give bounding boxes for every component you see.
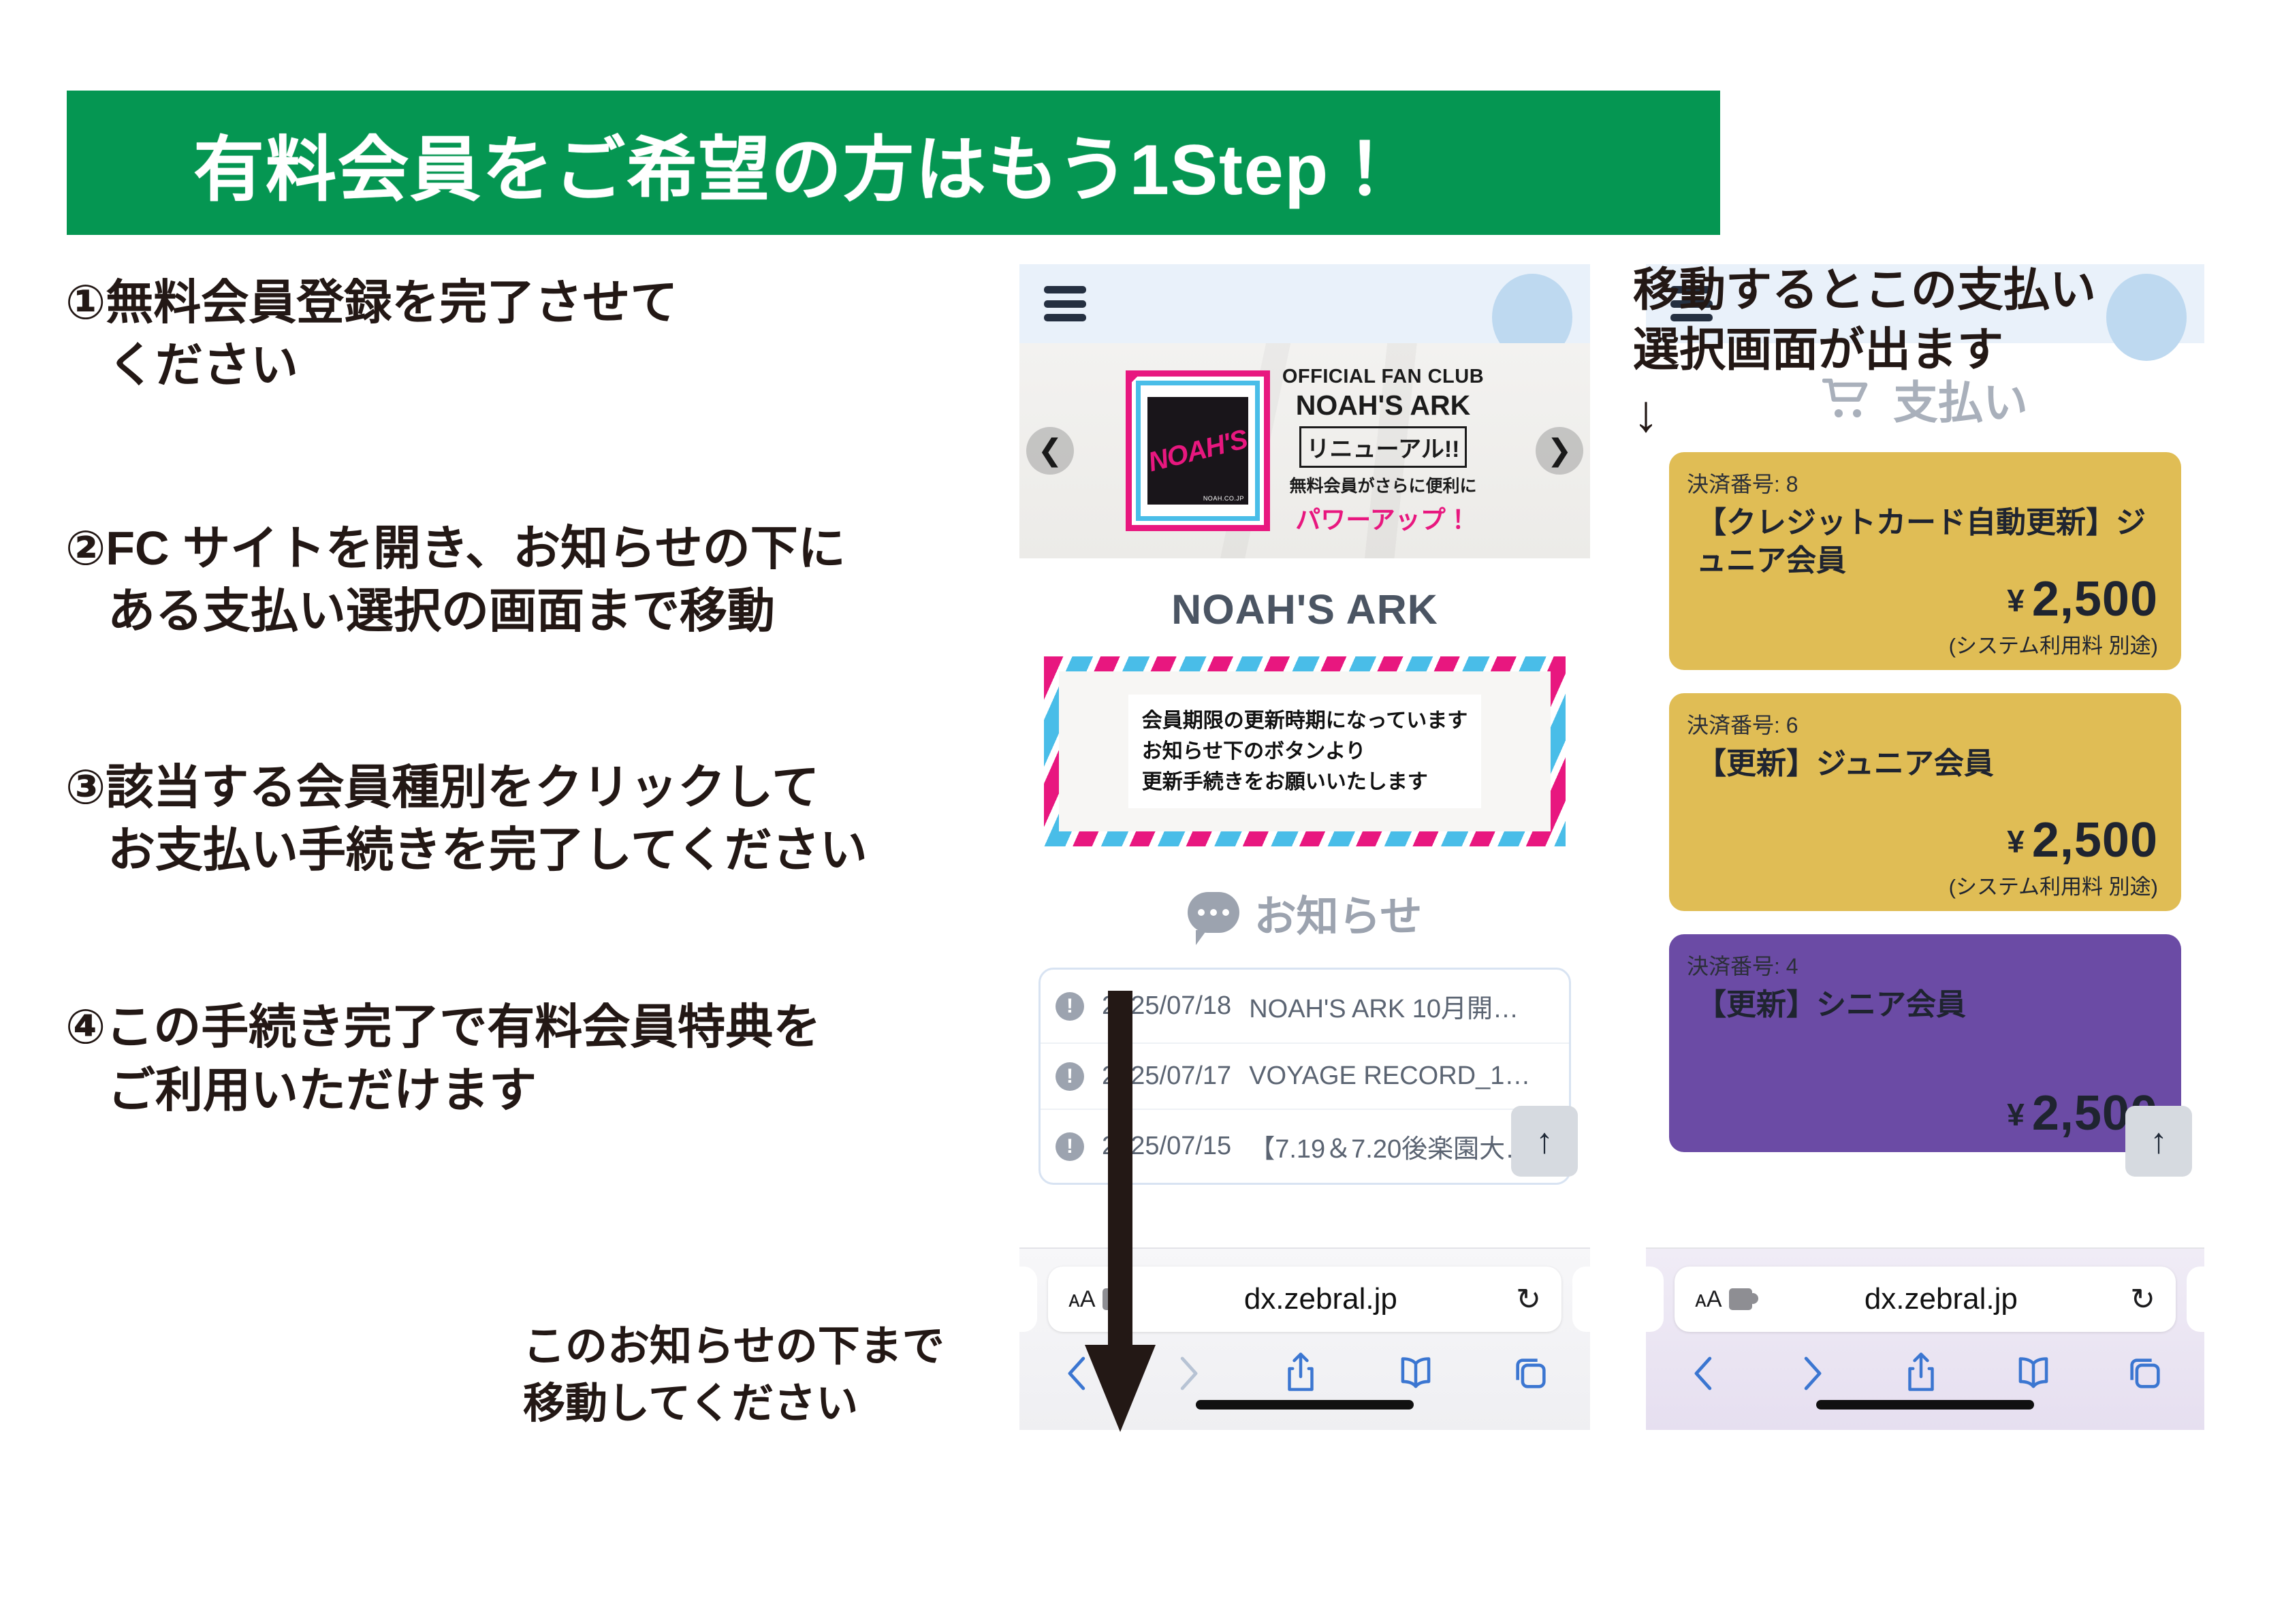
news-title: 【7.19＆7.20後楽園大… (1249, 1128, 1531, 1165)
notice-inner: 会員期限の更新時期になっています お知らせ下のボタンより 更新手続きをお願いいた… (1059, 671, 1551, 831)
payment-option-card[interactable]: 決済番号: 6 【更新】ジュニア会員 ¥2,500 (システム利用料 別途) (1669, 693, 2181, 911)
step-item-1: ①無料会員登録を完了させて ください (65, 271, 1019, 397)
back-icon[interactable] (1059, 1351, 1096, 1399)
payment-price-block: ¥2,500 (システム利用料 別途) (1949, 571, 2158, 659)
phone-screenshot-fc-site: ❮ NOAH'S NOAH.CO.JP OFFICIAL FAN CLUB NO… (1019, 264, 1590, 1430)
extensions-icon[interactable] (1729, 1288, 1752, 1310)
step-item-4: ④この手続き完了で有料会員特典を ご利用いただけます (65, 996, 1019, 1121)
phone2-screen: 支払い 決済番号: 8 【クレジットカード自動更新】ジュニア会員 ¥2,500 … (1646, 264, 2204, 1430)
step-3-line-1: ③該当する会員種別をクリックして (65, 756, 1019, 818)
tabs-icon[interactable] (2125, 1352, 2165, 1398)
text-size-icon[interactable]: ᴀA (1068, 1288, 1096, 1311)
step-2-line-2: ある支払い選択の画面まで移動 (65, 579, 1019, 642)
step-item-2: ②FC サイトを開き、お知らせの下に ある支払い選択の画面まで移動 (65, 517, 1019, 643)
step-1-line-1: ①無料会員登録を完了させて (65, 271, 1019, 334)
payment-plan-name: 【更新】シニア会員 (1687, 986, 2163, 1024)
news-list-item[interactable]: ! 2025/07/15 【7.19＆7.20後楽園大… (1041, 1110, 1569, 1183)
chat-bubble-icon (1188, 892, 1239, 933)
step-item-3: ③該当する会員種別をクリックして お支払い手続きを完了してください (65, 756, 1019, 882)
ark-artwork: NOAH'S NOAH.CO.JP (1126, 370, 1270, 531)
currency-symbol: ¥ (2007, 1097, 2025, 1132)
hero-copy: OFFICIAL FAN CLUB NOAH'S ARK リニューアル!! 無料… (1282, 366, 1484, 536)
payment-plan-name: 【更新】ジュニア会員 (1687, 745, 2163, 783)
notice-line-2: お知らせ下のボタンより (1142, 736, 1468, 767)
alert-icon: ! (1056, 1132, 1084, 1161)
text-size-icon[interactable]: ᴀA (1695, 1288, 1722, 1311)
hero-copy-line-1: OFFICIAL FAN CLUB (1282, 366, 1484, 388)
notice-banner: 会員期限の更新時期になっています お知らせ下のボタンより 更新手続きをお願いいた… (1044, 656, 1566, 846)
step-2-line-1: ②FC サイトを開き、お知らせの下に (65, 517, 1019, 579)
book-icon[interactable] (2012, 1352, 2055, 1398)
step-3-line-2: お支払い手続きを完了してください (65, 818, 1019, 881)
back-icon[interactable] (1685, 1351, 1722, 1399)
payment-note-line-1: 移動するとこの支払い (1633, 260, 2273, 320)
page-settings-group[interactable]: ᴀA (1068, 1288, 1126, 1311)
hamburger-icon[interactable] (1044, 286, 1086, 321)
payment-number: 決済番号: 6 (1687, 708, 2163, 739)
payment-screen-note: 移動するとこの支払い 選択画面が出ます (1633, 260, 2273, 381)
ark-logo-domain: NOAH.CO.JP (1203, 495, 1244, 502)
news-heading-label: お知らせ (1254, 882, 1423, 943)
share-icon[interactable] (1281, 1351, 1320, 1399)
price-value: 2,500 (2032, 813, 2158, 867)
payment-option-card[interactable]: 決済番号: 4 【更新】シニア会員 ¥2,500 (1669, 934, 2181, 1152)
tab-right-peek[interactable] (2187, 1267, 2204, 1332)
scroll-caption: このお知らせの下まで 移動してください (523, 1318, 1041, 1432)
down-arrow-icon: ↓ (1633, 388, 1659, 440)
home-indicator (1196, 1400, 1414, 1410)
page-settings-group[interactable]: ᴀA (1695, 1288, 1752, 1311)
hero-copy-line-5: パワーアップ！ (1282, 499, 1484, 536)
extensions-icon[interactable] (1103, 1288, 1126, 1310)
phone-screenshot-payment: 支払い 決済番号: 8 【クレジットカード自動更新】ジュニア会員 ¥2,500 … (1646, 264, 2204, 1430)
phone1-screen: ❮ NOAH'S NOAH.CO.JP OFFICIAL FAN CLUB NO… (1019, 264, 1590, 1430)
book-icon[interactable] (1395, 1352, 1437, 1398)
safari-toolbar (1646, 1332, 2204, 1399)
tab-left-peek[interactable] (1646, 1267, 1664, 1332)
payment-option-card[interactable]: 決済番号: 8 【クレジットカード自動更新】ジュニア会員 ¥2,500 (システ… (1669, 452, 2181, 670)
forward-icon[interactable] (1170, 1351, 1207, 1399)
hero-carousel: ❮ NOAH'S NOAH.CO.JP OFFICIAL FAN CLUB NO… (1019, 343, 1590, 558)
notice-line-3: 更新手続きをお願いいたします (1142, 767, 1468, 797)
currency-symbol: ¥ (2007, 824, 2025, 859)
price-value: 2,500 (2032, 572, 2158, 626)
url-text: dx.zebral.jp (1762, 1282, 2121, 1316)
share-icon[interactable] (1901, 1351, 1941, 1399)
alert-icon: ! (1056, 992, 1084, 1021)
tabs-icon[interactable] (1511, 1352, 1551, 1398)
safari-chrome: ᴀA dx.zebral.jp ↻ (1646, 1247, 2204, 1430)
cart-icon (1822, 379, 1875, 419)
currency-symbol: ¥ (2007, 583, 2025, 618)
site-header (1019, 264, 1590, 343)
payment-plan-name: 【クレジットカード自動更新】ジュニア会員 (1687, 504, 2163, 581)
notice-line-1: 会員期限の更新時期になっています (1142, 705, 1468, 736)
ark-logo: NOAH'S NOAH.CO.JP (1147, 397, 1248, 505)
scroll-caption-line-2: 移動してください (523, 1375, 1041, 1433)
news-title: VOYAGE RECORD_1… (1249, 1062, 1530, 1091)
payment-number: 決済番号: 4 (1687, 949, 2163, 981)
forward-icon[interactable] (1794, 1351, 1830, 1399)
home-indicator (1816, 1400, 2034, 1410)
carousel-prev-icon[interactable]: ❮ (1026, 427, 1074, 475)
tab-right-peek[interactable] (1572, 1267, 1590, 1332)
safari-chrome: ᴀA dx.zebral.jp ↻ (1019, 1247, 1590, 1430)
news-heading-row: お知らせ (1019, 846, 1590, 968)
payment-number: 決済番号: 8 (1687, 467, 2163, 498)
address-bar[interactable]: ᴀA dx.zebral.jp ↻ (1675, 1267, 2176, 1332)
site-title: NOAH'S ARK (1019, 558, 1590, 656)
news-date: 2025/07/15 (1102, 1132, 1231, 1161)
payment-price: ¥2,500 (1949, 571, 2158, 627)
alert-icon: ! (1056, 1062, 1084, 1091)
news-list: ! 2025/07/18 NOAH'S ARK 10月開… ! 2025/07/… (1038, 968, 1571, 1185)
scroll-caption-line-1: このお知らせの下まで (523, 1318, 1041, 1375)
address-bar[interactable]: ᴀA dx.zebral.jp ↻ (1048, 1267, 1561, 1332)
hero-copy-line-2: NOAH'S ARK (1282, 389, 1484, 421)
news-date: 2025/07/18 (1102, 991, 1231, 1021)
payment-price: ¥2,500 (1949, 812, 2158, 868)
scroll-to-top-button[interactable]: ↑ (1511, 1106, 1578, 1177)
hero-copy-line-4: 無料会員がさらに便利に (1282, 473, 1484, 497)
news-title: NOAH'S ARK 10月開… (1249, 987, 1519, 1025)
ark-logo-text: NOAH'S (1145, 424, 1250, 477)
tab-left-peek[interactable] (1019, 1267, 1037, 1332)
step-4-line-2: ご利用いただけます (65, 1059, 1019, 1121)
payment-note: (システム利用料 別途) (1949, 628, 2158, 659)
carousel-next-icon[interactable]: ❯ (1536, 427, 1583, 475)
notice-text: 会員期限の更新時期になっています お知らせ下のボタンより 更新手続きをお願いいた… (1128, 695, 1482, 808)
safari-toolbar (1019, 1332, 1590, 1399)
step-1-line-2: ください (65, 334, 1019, 396)
news-list-item[interactable]: ! 2025/07/17 VOYAGE RECORD_1… (1041, 1044, 1569, 1110)
slide-root: 有料会員をご希望の方はもう1Step！ ①無料会員登録を完了させて ください ②… (0, 0, 2284, 1624)
url-text: dx.zebral.jp (1135, 1282, 1507, 1316)
payment-price-block: ¥2,500 (システム利用料 別途) (1949, 812, 2158, 900)
news-list-item[interactable]: ! 2025/07/18 NOAH'S ARK 10月開… (1041, 970, 1569, 1044)
header-banner: 有料会員をご希望の方はもう1Step！ (67, 91, 1720, 235)
payment-note-line-2: 選択画面が出ます (1633, 320, 2273, 380)
hero-copy-line-3: リニューアル!! (1299, 426, 1468, 468)
reload-icon[interactable]: ↻ (2130, 1282, 2155, 1317)
banner-title: 有料会員をご希望の方はもう1Step！ (193, 112, 1401, 214)
news-date: 2025/07/17 (1102, 1062, 1231, 1091)
instruction-steps: ①無料会員登録を完了させて ください ②FC サイトを開き、お知らせの下に ある… (65, 271, 1019, 1202)
reload-icon[interactable]: ↻ (1516, 1282, 1541, 1317)
payment-note: (システム利用料 別途) (1949, 870, 2158, 900)
scroll-to-top-button[interactable]: ↑ (2125, 1106, 2192, 1177)
step-4-line-1: ④この手続き完了で有料会員特典を (65, 996, 1019, 1058)
